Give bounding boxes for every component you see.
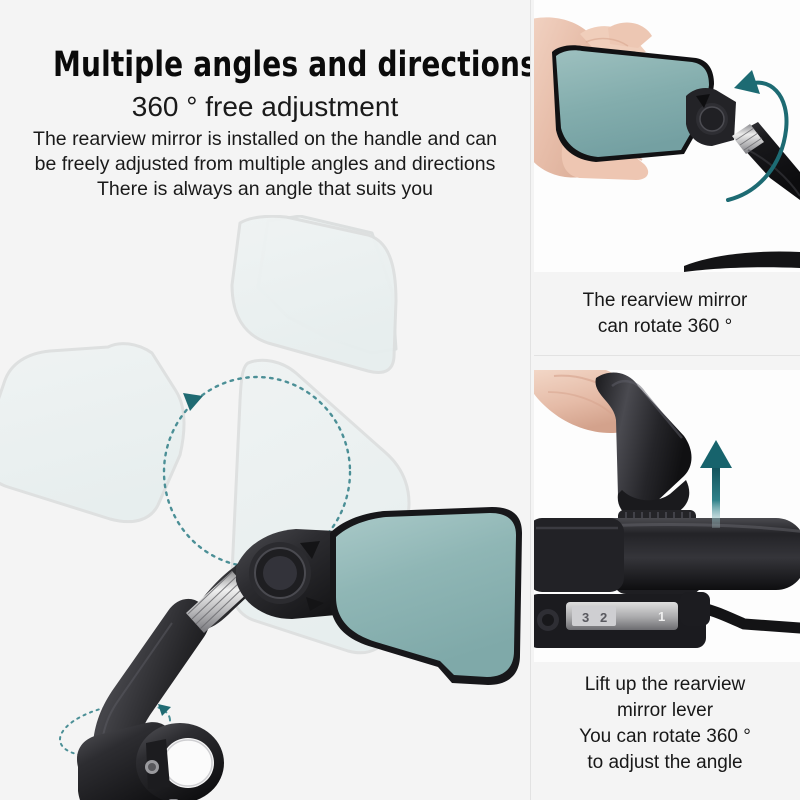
mirror-glass-active	[330, 507, 522, 685]
right-column: The rearview mirror can rotate 360 °	[530, 0, 800, 800]
caption-lift-lever: Lift up the rearview mirror lever You ca…	[530, 672, 800, 776]
caption-top-line-1: The rearview mirror	[530, 288, 800, 314]
page-title: Multiple angles and directions	[53, 46, 477, 84]
rotation-arrow-upper	[183, 393, 203, 411]
photo-panel-lift-lever: 3 2 1	[534, 370, 800, 662]
gear-number-1: 1	[658, 609, 665, 624]
caption-bottom-line-3: You can rotate 360 °	[530, 724, 800, 750]
bicycle-handlebar	[534, 518, 800, 592]
body-copy: The rearview mirror is installed on the …	[0, 127, 530, 202]
headline-block: Multiple angles and directions 360 ° fre…	[0, 46, 530, 124]
page-subtitle: 360 ° free adjustment	[0, 90, 530, 124]
gear-number-3: 3	[582, 610, 589, 625]
left-column: Multiple angles and directions 360 ° fre…	[0, 0, 530, 800]
caption-bottom-line-4: to adjust the angle	[530, 750, 800, 776]
caption-bottom-line-2: mirror lever	[530, 698, 800, 724]
photo-panel-rotate-mirror	[534, 0, 800, 272]
caption-top-line-2: can rotate 360 °	[530, 314, 800, 340]
caption-bottom-line-1: Lift up the rearview	[530, 672, 800, 698]
panel-divider-horizontal	[534, 355, 800, 356]
caption-rotate-mirror: The rearview mirror can rotate 360 °	[530, 288, 800, 340]
body-copy-line-2: be freely adjusted from multiple angles …	[0, 152, 530, 177]
ghost-mirror-upper	[232, 216, 396, 372]
body-copy-line-1: The rearview mirror is installed on the …	[0, 127, 530, 152]
body-copy-line-3: There is always an angle that suits you	[0, 177, 530, 202]
mirror-rotation-illustration	[0, 215, 530, 800]
product-feature-infographic: Multiple angles and directions 360 ° fre…	[0, 0, 800, 800]
gear-number-2: 2	[600, 610, 607, 625]
ghost-mirror-left	[0, 344, 184, 522]
base-rotation-arrow-right	[158, 704, 171, 716]
